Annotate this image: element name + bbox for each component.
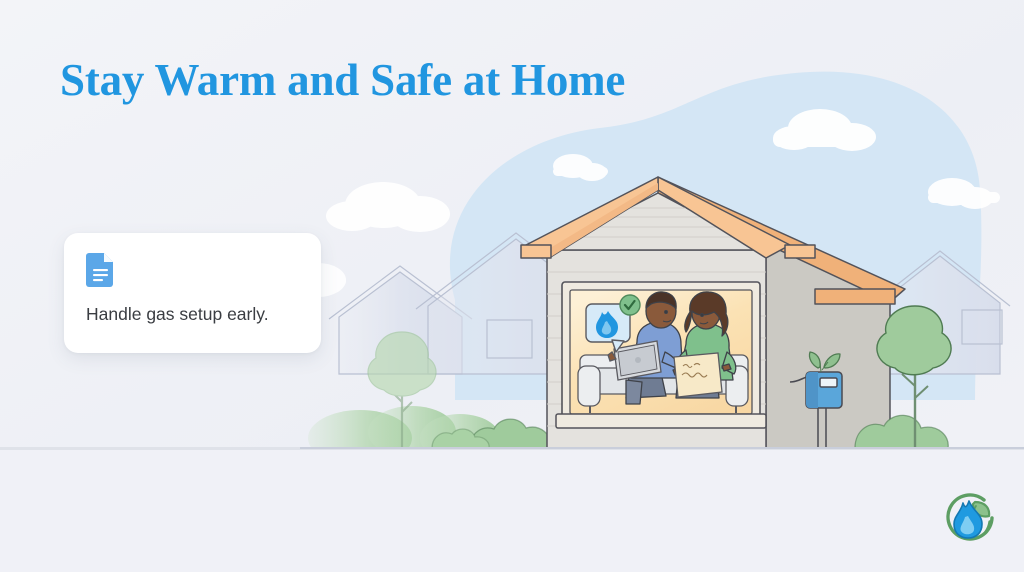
gas-service-paper bbox=[674, 353, 722, 397]
ground-line bbox=[0, 447, 1024, 450]
house-window bbox=[556, 282, 766, 428]
gas-leaf-logo[interactable] bbox=[940, 488, 1002, 550]
info-card-text: Handle gas setup early. bbox=[86, 303, 299, 327]
green-check-badge bbox=[620, 295, 640, 315]
document-icon bbox=[86, 253, 116, 287]
info-card[interactable]: Handle gas setup early. bbox=[64, 233, 321, 353]
slide-canvas: Stay Warm and Safe at Home Handle gas se… bbox=[0, 0, 1024, 572]
page-title: Stay Warm and Safe at Home bbox=[60, 55, 625, 107]
